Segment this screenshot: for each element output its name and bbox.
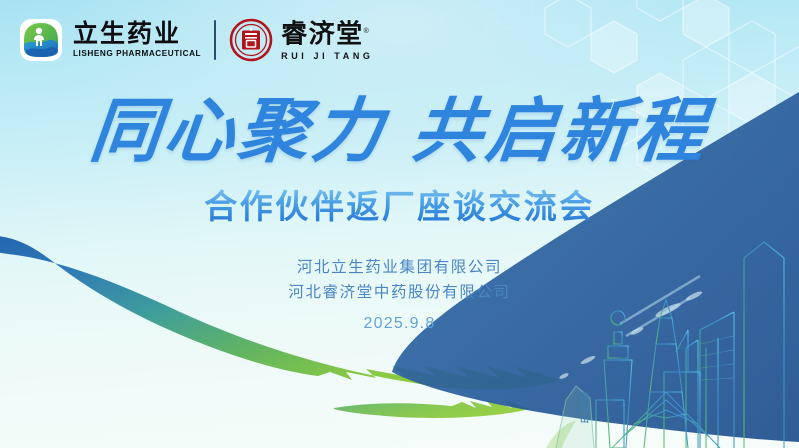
ruijitang-wordmark: 睿济堂® RUI JI TANG [281,18,373,62]
tower-label: 幸福靓丽石家庄 [616,352,628,415]
page-subtitle: 合作伙伴返厂座谈交流会 [0,186,799,228]
title-part-2: 共启新程 [408,89,713,172]
event-date: 2025.9.8 [0,313,799,335]
logo-divider [214,20,216,60]
organization-name-2: 河北睿济堂中药股份有限公司 [0,280,799,305]
lisheng-name-en: LISHENG PHARMACEUTICAL [73,48,201,59]
mountain-label: 苍岩山 [578,392,590,425]
ruijitang-name-cn-text: 睿济堂 [281,19,364,49]
organization-list: 河北立生药业集团有限公司 河北睿济堂中药股份有限公司 [0,255,799,305]
title-part-1: 同心聚力 [86,89,391,172]
lisheng-mountain-logo-icon [18,17,64,63]
ruijitang-name-cn: 睿济堂® [281,18,373,48]
registered-mark: ® [364,28,371,35]
brand-header: 立生药业 LISHENG PHARMACEUTICAL 睿济堂® RU [18,14,374,66]
lisheng-wordmark: 立生药业 LISHENG PHARMACEUTICAL [73,21,201,59]
organization-name-1: 河北立生药业集团有限公司 [0,255,799,280]
banner-canvas: 立生药业 LISHENG PHARMACEUTICAL 睿济堂® RU [0,0,799,448]
lisheng-name-cn: 立生药业 [73,21,201,47]
page-title: 同心聚力共启新程 [0,92,799,170]
ruijitang-seal-icon [229,18,273,62]
ruijitang-name-en: RUI JI TANG [281,50,373,62]
